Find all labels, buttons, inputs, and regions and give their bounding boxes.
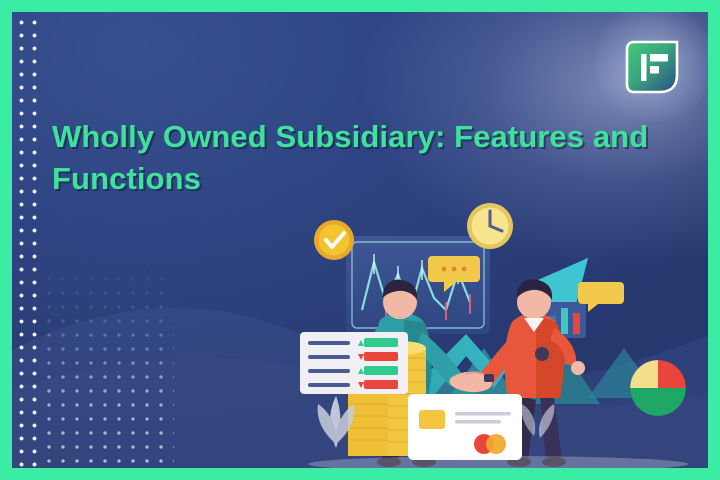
card-network-logo: [474, 434, 506, 454]
credit-card: [408, 394, 522, 460]
ground-shadow: [308, 456, 688, 468]
banner-card: Wholly Owned Subsidiary: Features and Fu…: [0, 0, 720, 480]
check-badge-icon: [314, 220, 354, 260]
brand-logo[interactable]: F: [624, 39, 680, 95]
lower-left-dot-grid: [42, 258, 174, 468]
brand-logo-icon: [624, 39, 680, 95]
page-title: Wholly Owned Subsidiary: Features and Fu…: [52, 116, 652, 200]
brand-logo-letter: F: [680, 39, 681, 40]
left-dotted-rail: [12, 12, 38, 468]
banner-stage: Wholly Owned Subsidiary: Features and Fu…: [12, 12, 708, 468]
pie-chart-icon: [630, 360, 686, 416]
clock-icon: [467, 203, 513, 249]
business-partnership-illustration: [288, 198, 708, 468]
checklist-panel: [300, 332, 408, 394]
